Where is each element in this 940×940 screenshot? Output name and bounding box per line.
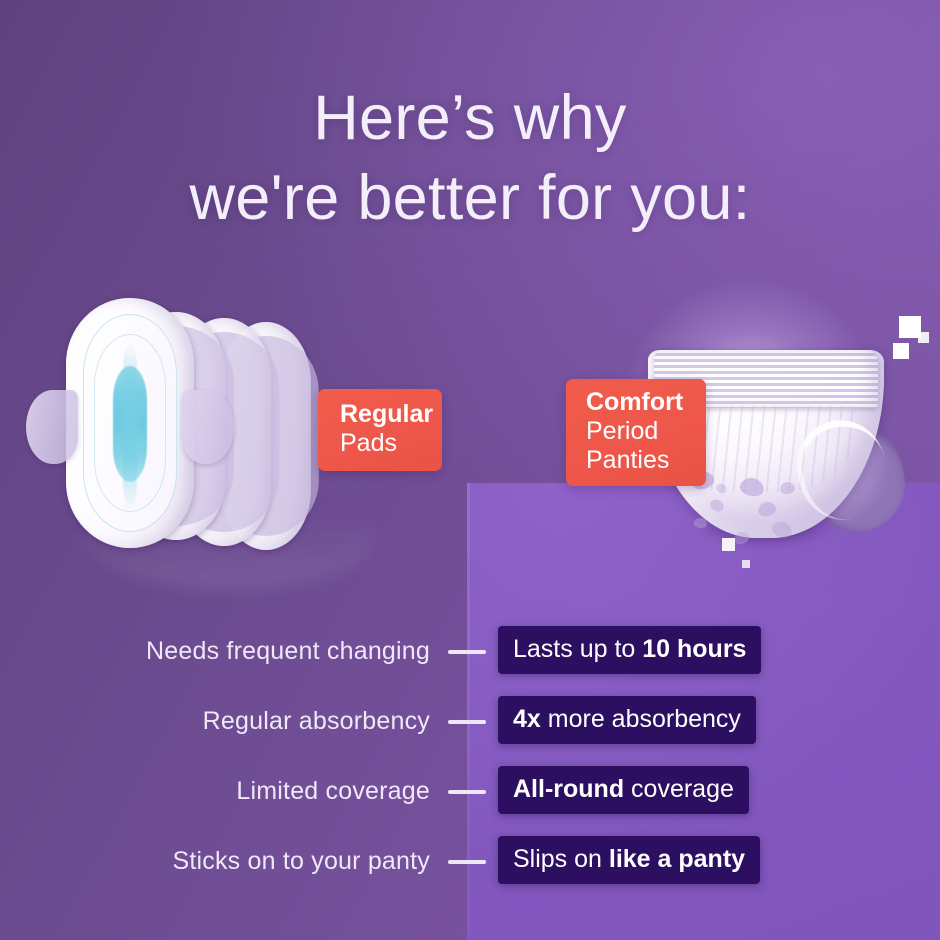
comparison-row: Sticks on to your panty Slips on like a … xyxy=(0,836,940,906)
regular-pads-badge: Regular Pads xyxy=(318,389,442,471)
regular-pads-badge-title: Regular xyxy=(340,400,442,429)
pill-text-prefix: Slips on xyxy=(513,845,609,873)
panty-print-petal xyxy=(757,500,778,518)
headline-line-2: we're better for you: xyxy=(0,158,940,238)
comparison-row-right-pill: Lasts up to 10 hours xyxy=(498,626,761,674)
page-title: Here’s why we're better for you: xyxy=(0,78,940,238)
promo-graphic: Here’s why we're better for you: Regular… xyxy=(0,0,940,940)
comparison-row-right-pill: 4x more absorbency xyxy=(498,696,756,744)
comparison-row-right-pill: All-round coverage xyxy=(498,766,749,814)
pad-wing-right xyxy=(182,390,234,464)
comparison-row-left-label: Regular absorbency xyxy=(70,704,430,738)
comfort-badge-subtitle-1: Period xyxy=(586,417,706,446)
comparison-row-right-pill: Slips on like a panty xyxy=(498,836,760,884)
comparison-row-left-label: Limited coverage xyxy=(70,774,430,808)
panty-print-petal xyxy=(732,530,750,547)
comparison-row-left-label: Needs frequent changing xyxy=(70,634,430,668)
panty-print-petal xyxy=(708,497,725,513)
sparkle-icon xyxy=(918,332,929,343)
comfort-badge-title: Comfort xyxy=(586,388,706,417)
sparkle-icon xyxy=(893,343,909,359)
headline-line-1: Here’s why xyxy=(313,83,626,153)
pill-text-suffix: more absorbency xyxy=(541,705,741,733)
pill-text-prefix: Lasts up to xyxy=(513,635,642,663)
pill-text-bold: All-round xyxy=(513,775,624,803)
comparison-row-connector xyxy=(448,650,486,654)
sparkle-icon xyxy=(722,538,735,551)
comparison-row-connector xyxy=(448,720,486,724)
sparkle-icon xyxy=(742,560,750,568)
pill-text-bold: like a panty xyxy=(609,845,745,873)
pad-front-1 xyxy=(66,298,194,548)
comparison-row: Limited coverage All-round coverage xyxy=(0,766,940,836)
comparison-row: Regular absorbency 4x more absorbency xyxy=(0,696,940,766)
comparison-row-left-label: Sticks on to your panty xyxy=(70,844,430,878)
pill-text-suffix: coverage xyxy=(624,775,734,803)
comparison-row-connector xyxy=(448,860,486,864)
comfort-period-panties-badge: Comfort Period Panties xyxy=(566,379,706,486)
comparison-list: Needs frequent changing Lasts up to 10 h… xyxy=(0,626,940,906)
pill-text-bold: 4x xyxy=(513,705,541,733)
pad-wing-left xyxy=(26,390,78,464)
comfort-badge-subtitle-2: Panties xyxy=(586,446,706,475)
comparison-row: Needs frequent changing Lasts up to 10 h… xyxy=(0,626,940,696)
regular-pads-badge-subtitle: Pads xyxy=(340,429,442,458)
comparison-row-connector xyxy=(448,790,486,794)
pad-absorbent-core-stripe xyxy=(113,366,147,482)
pill-text-bold: 10 hours xyxy=(642,635,746,663)
